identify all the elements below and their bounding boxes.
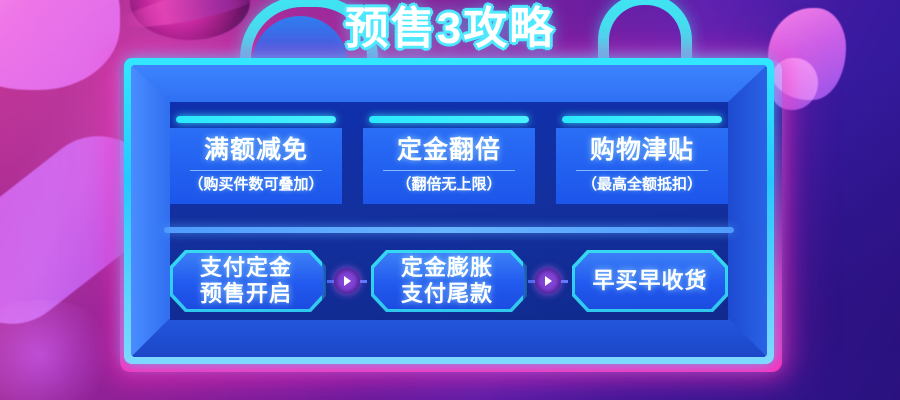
step-flow: 支付定金 预售开启 定金膨胀 支付尾款: [170, 250, 728, 312]
step-item-pay-deposit[interactable]: 支付定金 预售开启: [170, 250, 322, 312]
card-accent-bar: [562, 116, 722, 123]
section-divider: [164, 227, 734, 233]
card-title: 定金翻倍: [367, 134, 531, 166]
card-title: 购物津贴: [560, 134, 724, 166]
card-accent-bar: [176, 116, 336, 123]
step-label-line1: 定金膨胀: [401, 255, 493, 281]
card-subtitle: （翻倍无上限）: [367, 175, 531, 195]
step-item-deposit-expand[interactable]: 定金膨胀 支付尾款: [371, 250, 523, 312]
step-item-early-delivery[interactable]: 早买早收货: [572, 250, 728, 312]
page-title: 预售3攻略: [0, 0, 900, 58]
card-subtitle: （购买件数可叠加）: [174, 175, 338, 195]
step-label-line1: 早买早收货: [592, 268, 707, 294]
arrow-triangle: [344, 276, 351, 286]
card-accent-bar: [369, 116, 529, 123]
benefit-card-list: 满额减免 （购买件数可叠加） 定金翻倍 （翻倍无上限） 购物津贴: [170, 116, 728, 204]
content-area: 满额减免 （购买件数可叠加） 定金翻倍 （翻倍无上限） 购物津贴: [170, 102, 728, 320]
bevel-right: [727, 65, 767, 357]
promo-banner: 预售3攻略 满额减免 （购买件数可叠加） 定金翻倍 （翻倍无上限）: [0, 0, 900, 400]
arrow-triangle: [545, 276, 552, 286]
card-subtitle: （最高全额抵扣）: [560, 175, 724, 195]
benefit-card[interactable]: 购物津贴 （最高全额抵扣）: [556, 116, 728, 204]
bevel-bottom: [131, 319, 767, 357]
bevel-left: [131, 65, 171, 357]
card-body: 购物津贴 （最高全额抵扣）: [556, 128, 728, 204]
step-label: 早买早收货: [592, 268, 707, 294]
card-divider: [383, 170, 515, 171]
benefit-card[interactable]: 定金翻倍 （翻倍无上限）: [363, 116, 535, 204]
benefit-card[interactable]: 满额减免 （购买件数可叠加）: [170, 116, 342, 204]
card-body: 定金翻倍 （翻倍无上限）: [363, 128, 535, 204]
card-divider: [576, 170, 708, 171]
step-connector: [327, 266, 367, 296]
card-title: 满额减免: [174, 134, 338, 166]
step-label: 定金膨胀 支付尾款: [401, 255, 493, 307]
play-arrow-icon: [535, 268, 561, 294]
step-label-line2: 支付尾款: [401, 281, 493, 307]
step-connector: [528, 266, 568, 296]
bevel-top: [131, 65, 767, 103]
step-label-line2: 预售开启: [200, 281, 292, 307]
card-divider: [190, 170, 322, 171]
step-label-line1: 支付定金: [200, 255, 292, 281]
play-arrow-icon: [334, 268, 360, 294]
step-label: 支付定金 预售开启: [200, 255, 292, 307]
card-body: 满额减免 （购买件数可叠加）: [170, 128, 342, 204]
